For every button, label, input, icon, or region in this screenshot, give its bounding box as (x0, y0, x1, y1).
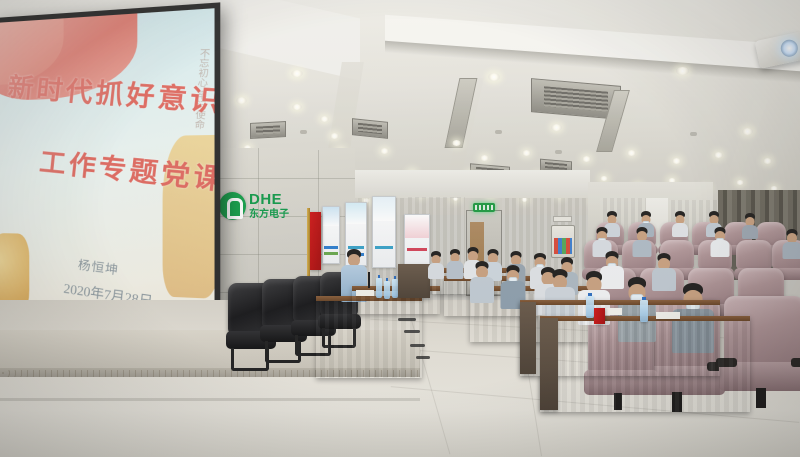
banner-artwork (346, 203, 366, 224)
downlight (488, 73, 500, 81)
foreground-desk-front (540, 316, 750, 412)
downlight (763, 158, 772, 164)
banner-accent-bar (324, 246, 337, 249)
downlight (292, 104, 302, 110)
exit-sign (473, 203, 495, 212)
attendee (782, 230, 800, 258)
downlight (236, 97, 247, 104)
downlight (627, 150, 636, 156)
downlight (676, 67, 689, 75)
company-logo: DHE 东方电子 (219, 188, 301, 234)
downlight (291, 70, 303, 77)
downlight (452, 140, 461, 146)
smoke-detector-icon-4 (555, 150, 562, 154)
attendee-front (470, 262, 494, 302)
control-panel[interactable] (551, 225, 575, 258)
downlight (582, 156, 591, 162)
logo-text: DHE (249, 192, 282, 207)
logo-subtext: 东方电子 (249, 209, 289, 220)
downlight (320, 116, 329, 122)
ac-vent-icon-3 (250, 121, 286, 139)
logo-mark-icon (219, 192, 246, 220)
desk-mini-flag (594, 308, 605, 324)
downlight (736, 180, 744, 185)
back-wall-white-upper (355, 170, 590, 198)
document-paper (356, 290, 374, 296)
downlight (522, 150, 531, 156)
desk-side-panel (540, 318, 558, 410)
red-flag (309, 212, 321, 270)
banner-artwork (323, 207, 339, 226)
floor-cable (416, 356, 430, 359)
desk-side-panel (520, 302, 536, 374)
downlight (600, 176, 608, 181)
document-paper (656, 312, 680, 319)
downlight (330, 133, 339, 139)
rollup-banner-left (322, 206, 340, 264)
attendee (742, 214, 758, 238)
downlight (714, 152, 723, 158)
banner-accent-bar (407, 248, 427, 251)
banner-accent-bar (375, 246, 394, 249)
downlight (742, 128, 753, 135)
smoke-detector-icon-2 (495, 130, 502, 134)
stage-front-band (0, 398, 420, 401)
attendee (446, 250, 463, 278)
banner-accent-bar (324, 252, 337, 255)
rollup-banner-tall (372, 196, 396, 268)
smoke-detector-icon-1 (300, 130, 307, 134)
rollup-banner-right (404, 214, 430, 266)
microphone (368, 272, 370, 288)
meeting-room-photo: DHE 东方电子 (0, 0, 800, 457)
equipment-cabinet (398, 264, 430, 298)
water-bottle (376, 278, 382, 298)
projector-lens-icon (779, 38, 799, 58)
attendee (710, 228, 729, 256)
floor-cable (410, 344, 425, 347)
attendee (632, 228, 651, 256)
ac-vent-icon-2 (352, 118, 388, 139)
floor-cable (398, 318, 416, 321)
water-bottle (384, 281, 390, 299)
downlight (480, 155, 489, 161)
wall-notice-sign (553, 216, 572, 222)
water-bottle (586, 296, 594, 318)
control-panel-buttons-icon (554, 238, 572, 254)
downlight (551, 124, 562, 131)
attendee (428, 252, 444, 278)
water-bottle (640, 300, 648, 322)
downlight (380, 148, 389, 154)
banner-artwork (373, 197, 395, 221)
smoke-detector-icon-3 (690, 132, 697, 136)
banner-artwork (405, 215, 429, 238)
floor-cable (404, 330, 420, 333)
downlight (672, 158, 681, 164)
attendee (672, 212, 688, 236)
